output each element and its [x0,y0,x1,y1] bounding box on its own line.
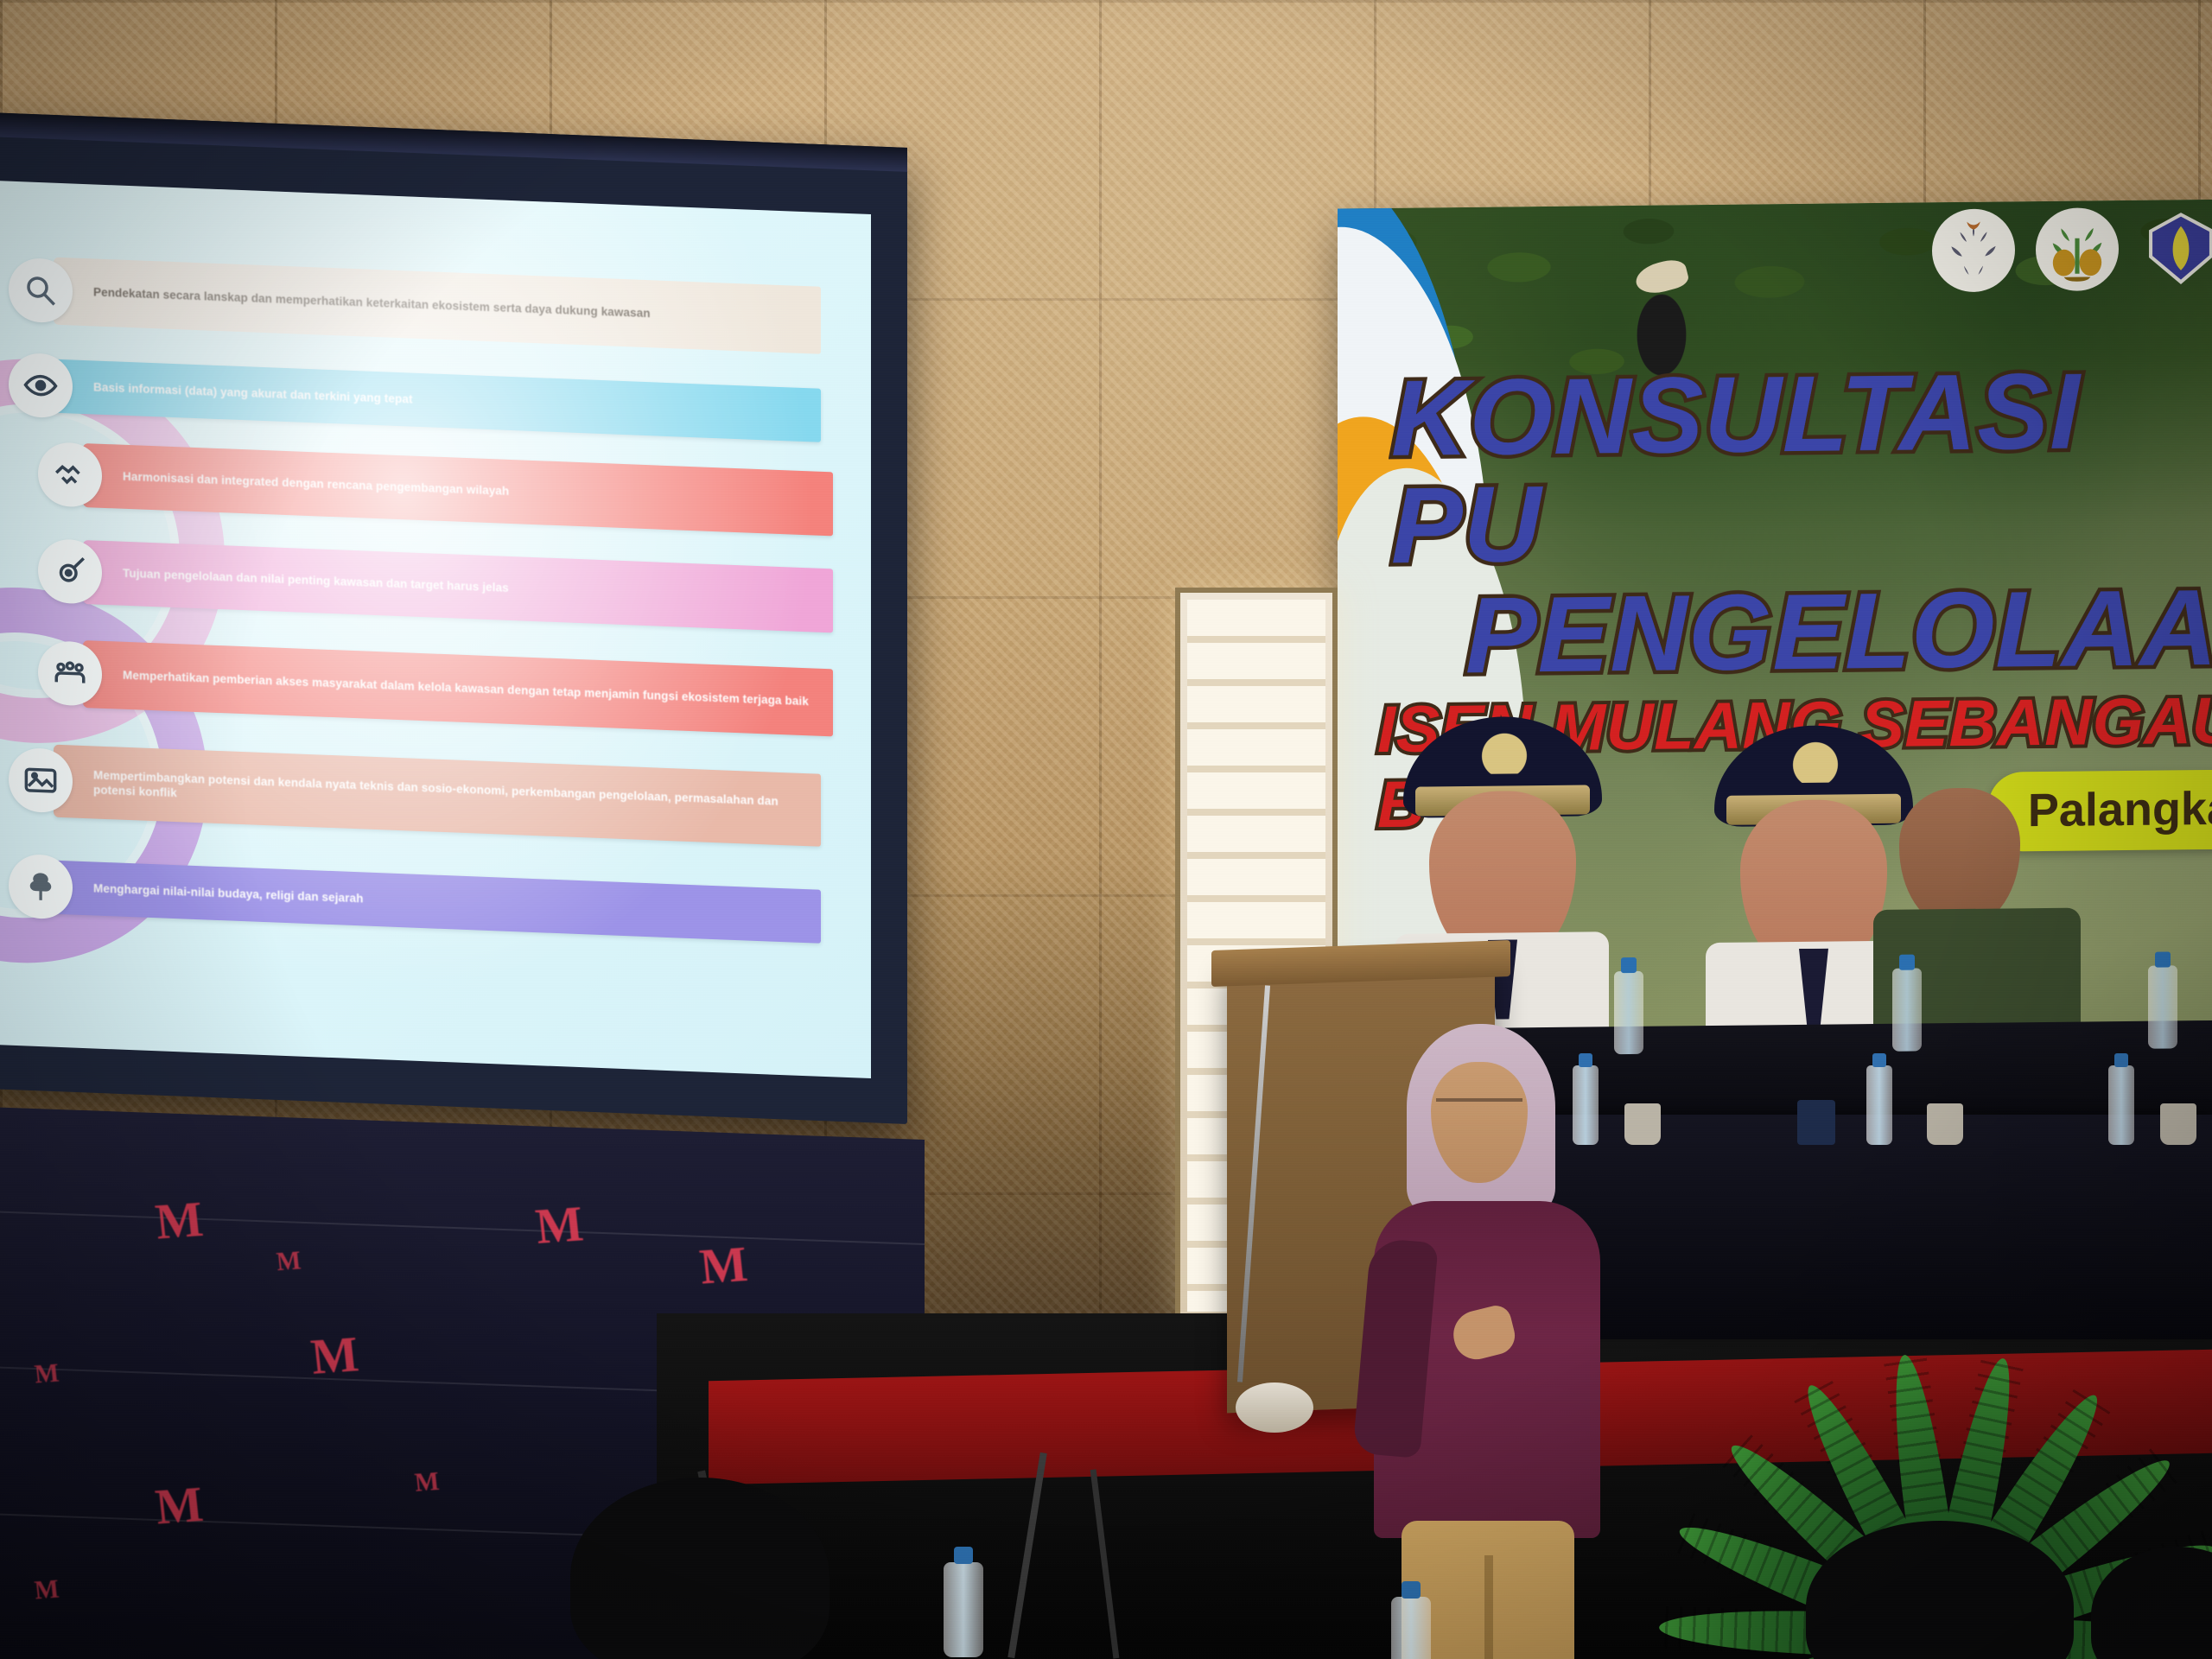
microphone-base [1236,1382,1313,1433]
backdrop-logo: M [153,1475,206,1536]
cup [1927,1103,1963,1145]
water-bottle [944,1562,983,1657]
provincial-emblem-icon [2139,207,2212,290]
slide-row-text: Mempertimbangkan potensi dan kendala nya… [93,767,807,824]
banner-logo-row [1932,207,2212,293]
backdrop-logo: M [308,1325,361,1386]
backdrop-logo: M [33,1359,60,1390]
backdrop-logo: M [697,1235,750,1296]
slide-row-text: Memperhatikan pemberian akses masyarakat… [123,668,809,709]
slide-row-text: Harmonisasi dan integrated dengan rencan… [123,469,509,499]
banner-title-line-1: KONSULTASI PU [1391,356,2212,579]
cup [2160,1103,2196,1145]
backdrop-logo: M [33,1575,60,1606]
banner-title-line-2: PENGELOLAA [1465,574,2212,690]
presentation-screen: Pendekatan secara lanskap dan memperhati… [0,130,933,1132]
water-bottle [1866,1065,1892,1145]
slide-row-text: Basis informasi (data) yang akurat dan t… [93,380,413,407]
backdrop-logo: M [275,1246,302,1277]
slide-content: Pendekatan secara lanskap dan memperhati… [0,180,871,1078]
backdrop-logo: M [153,1190,206,1251]
slide-row-text: Tujuan pengelolaan dan nilai penting kaw… [123,566,509,595]
cup [1797,1100,1835,1145]
backdrop-logo: M [533,1194,586,1255]
water-bottle [1391,1597,1431,1659]
slide-row: Menghargai nilai-nilai budaya, religi da… [9,854,821,949]
banyan-tree-emblem-icon [1932,208,2015,292]
slide-row: Pendekatan secara lanskap dan memperhati… [9,256,821,354]
backdrop-logo: M [413,1467,441,1498]
conference-hall-photo: Pendekatan secara lanskap dan memperhati… [0,0,2212,1659]
forestry-ministry-emblem-icon [2036,207,2119,291]
glasses-icon [1436,1098,1522,1122]
slide-row-text: Pendekatan secara lanskap dan memperhati… [93,285,651,321]
slide-row-bar: Menghargai nilai-nilai budaya, religi da… [54,861,821,944]
slide-row-text: Menghargai nilai-nilai budaya, religi da… [93,881,363,906]
presenter [1357,1024,1642,1659]
slide-row-bar: Pendekatan secara lanskap dan memperhati… [54,257,821,354]
water-bottle [2108,1065,2134,1145]
banner-title-block: KONSULTASI PU PENGELOLAA [1391,356,2212,690]
